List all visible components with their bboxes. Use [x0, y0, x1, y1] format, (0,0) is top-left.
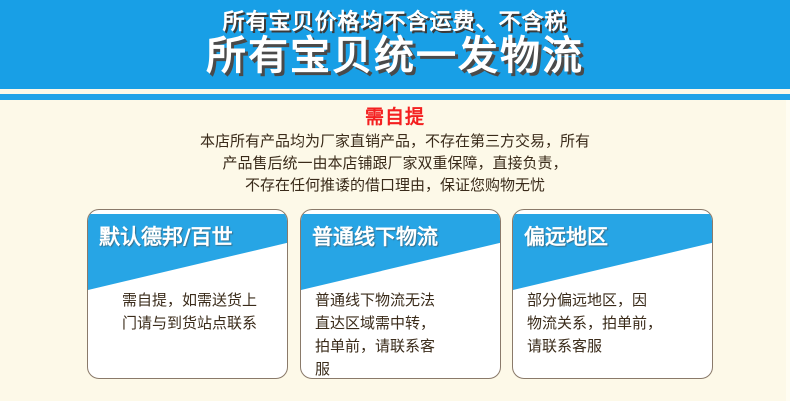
- shipping-policy-banner: 所有宝贝价格均不含运费、不含税 所有宝贝统一发物流 需自提 本店所有产品均为厂家…: [0, 0, 790, 401]
- shipping-card-standard-ground: 普通线下物流 普通线下物流无法 直达区域需中转， 拍单前，请联系客 服: [300, 209, 501, 379]
- card-body-line: 直达区域需中转，: [315, 312, 490, 335]
- card-body-line: 请联系客服: [527, 335, 702, 358]
- card-body-line: 普通线下物流无法: [315, 289, 490, 312]
- card-body-line: 部分偏远地区，因: [527, 289, 702, 312]
- self-pickup-notice: 需自提: [0, 102, 790, 129]
- card-body: 普通线下物流无法 直达区域需中转， 拍单前，请联系客 服: [315, 289, 490, 379]
- card-title: 默认德邦/百世: [99, 221, 233, 251]
- card-body-line: 服: [315, 358, 490, 379]
- policy-paragraph: 本店所有产品均为厂家直销产品，不存在第三方交易，所有 产品售后统一由本店铺跟厂家…: [95, 130, 695, 196]
- card-body-line: 拍单前，请联系客: [315, 335, 490, 358]
- policy-paragraph-line: 产品售后统一由本店铺跟厂家双重保障，直接负责，: [95, 152, 695, 174]
- card-body-line: 需自提，如需送货上: [102, 289, 277, 312]
- card-body-line: 物流关系，拍单前，: [527, 312, 702, 335]
- shipping-option-cards: 默认德邦/百世 需自提，如需送货上 门请与到货站点联系 普通线下物流 普通线下物…: [0, 209, 790, 381]
- card-body-line: 门请与到货站点联系: [102, 312, 277, 335]
- policy-paragraph-line: 不存在任何推诿的借口理由，保证您购物无忧: [95, 174, 695, 196]
- shipping-card-remote-areas: 偏远地区 部分偏远地区，因 物流关系，拍单前， 请联系客服: [512, 209, 713, 379]
- card-title: 偏远地区: [524, 221, 608, 251]
- header-headline: 所有宝贝统一发物流: [0, 34, 790, 78]
- banner-header: 所有宝贝价格均不含运费、不含税 所有宝贝统一发物流: [0, 0, 790, 89]
- card-body: 部分偏远地区，因 物流关系，拍单前， 请联系客服: [527, 289, 702, 358]
- policy-paragraph-line: 本店所有产品均为厂家直销产品，不存在第三方交易，所有: [95, 130, 695, 152]
- banner-body: 需自提 本店所有产品均为厂家直销产品，不存在第三方交易，所有 产品售后统一由本店…: [0, 100, 790, 401]
- card-title: 普通线下物流: [312, 221, 438, 251]
- card-body: 需自提，如需送货上 门请与到货站点联系: [102, 289, 277, 335]
- header-subheadline: 所有宝贝价格均不含运费、不含税: [0, 4, 790, 36]
- shipping-card-default-deppon-best: 默认德邦/百世 需自提，如需送货上 门请与到货站点联系: [87, 209, 288, 379]
